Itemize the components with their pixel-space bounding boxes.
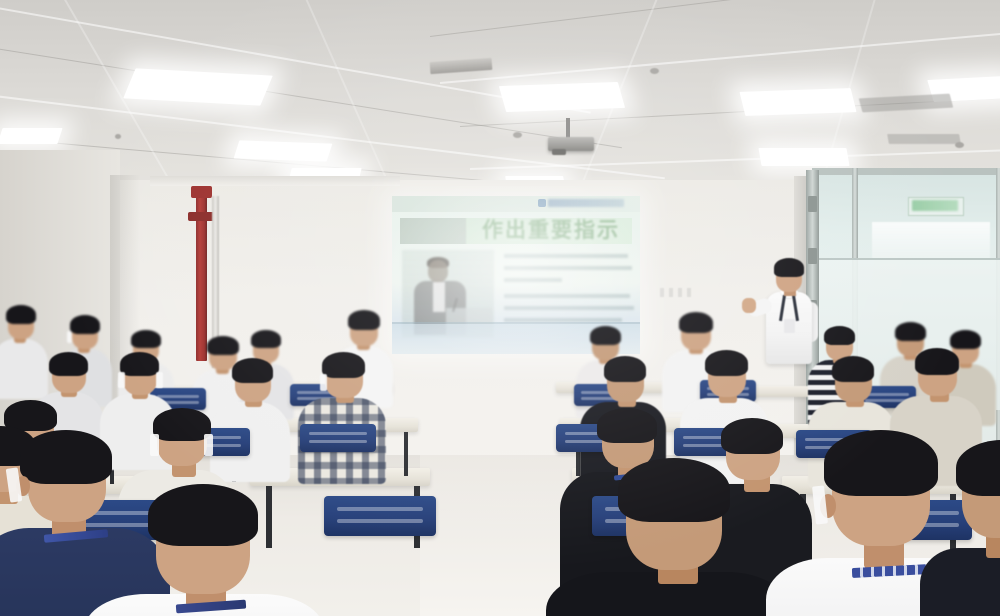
classroom-seminar-photo: 作出重要指示: [0, 0, 1000, 616]
wall-trim: [150, 176, 400, 186]
slide-title: 作出重要指示: [482, 219, 632, 243]
glass-reflection: [872, 222, 990, 262]
smoke-detector-icon: [650, 68, 659, 74]
smoke-detector-icon: [955, 142, 964, 148]
projector-mount: [566, 118, 570, 138]
classroom-chair: [300, 424, 376, 452]
air-vent: [887, 134, 961, 144]
slide-logo-text: [548, 199, 624, 207]
ceiling-light-panel: [234, 140, 333, 161]
desk-leg: [404, 432, 408, 476]
slide-body-line: [504, 254, 628, 258]
slide-body-line: [504, 306, 634, 310]
ceiling-light-panel: [758, 148, 849, 166]
ceiling-light-panel: [0, 128, 63, 144]
face-mask-strap: [156, 372, 163, 388]
slide-body-line: [504, 294, 630, 298]
wall-marking: [660, 288, 696, 297]
slide-logo-icon: [538, 199, 546, 207]
ceiling-light-panel: [123, 68, 273, 105]
classroom-chair: [324, 496, 436, 536]
desk-leg: [266, 486, 272, 548]
slide-body-line: [504, 278, 562, 282]
air-vent: [859, 94, 954, 113]
face-mask-strap: [320, 374, 327, 391]
face-mask-strap: [118, 372, 125, 388]
face-mask-strap: [150, 434, 159, 456]
standpipe-flange: [191, 186, 212, 198]
projector-lens-icon: [552, 149, 566, 155]
sprinkler-head-icon: [115, 134, 121, 139]
face-mask-strap: [204, 434, 213, 456]
ceiling-light-panel: [499, 82, 625, 112]
exit-sign-glyph-icon: [912, 200, 958, 211]
ceiling-light-panel: [739, 88, 856, 116]
presenter-badge: [784, 319, 795, 333]
standpipe-valve: [188, 212, 215, 221]
presenter-speaking: [756, 258, 822, 368]
partition-top-frame: [812, 168, 1000, 175]
smoke-detector-icon: [513, 132, 522, 138]
door-hinge-icon: [808, 196, 817, 212]
slide-body-line: [504, 266, 632, 270]
